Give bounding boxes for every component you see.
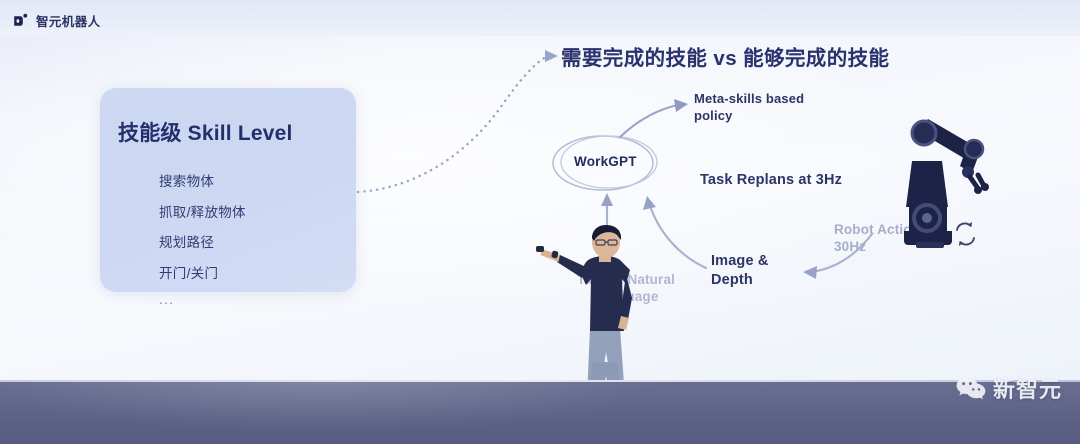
skill-level-card: 技能级 Skill Level 搜索物体 抓取/释放物体 规划路径 开门/关门 … [100,88,356,292]
list-item-ellipsis: ... [159,292,246,307]
image-depth-label: Image & Depth [711,252,801,290]
brand-name: 智元机器人 [36,11,101,30]
skill-list: 搜索物体 抓取/释放物体 规划路径 开门/关门 ... [119,170,246,318]
stage-floor-sheen [0,380,1080,444]
workgpt-label: WorkGPT [574,154,637,169]
list-item: 开门/关门 [159,262,246,282]
task-replans-label: Task Replans at 3Hz [700,172,842,189]
card-title: 技能级 Skill Level [118,117,293,147]
slide-headline: 需要完成的技能 vs 能够完成的技能 [561,41,889,71]
meta-skills-label: Meta-skills based policy [694,91,824,124]
slide-screenshot: 智元机器人 技能级 Skill Level 搜索物体 抓取/释放物体 规划路径 … [0,0,1080,444]
list-item: 规划路径 [159,231,246,251]
list-item: 搜索物体 [159,170,246,190]
wechat-icon [956,375,986,401]
watermark: 新智元 [956,372,1062,404]
screen-top-band [0,0,1080,36]
robot-arm-icon [888,95,998,260]
list-item: 抓取/释放物体 [159,201,246,221]
brand-logo: 智元机器人 [12,11,101,30]
watermark-text: 新智元 [993,372,1062,404]
agibot-logo-icon [12,13,29,29]
